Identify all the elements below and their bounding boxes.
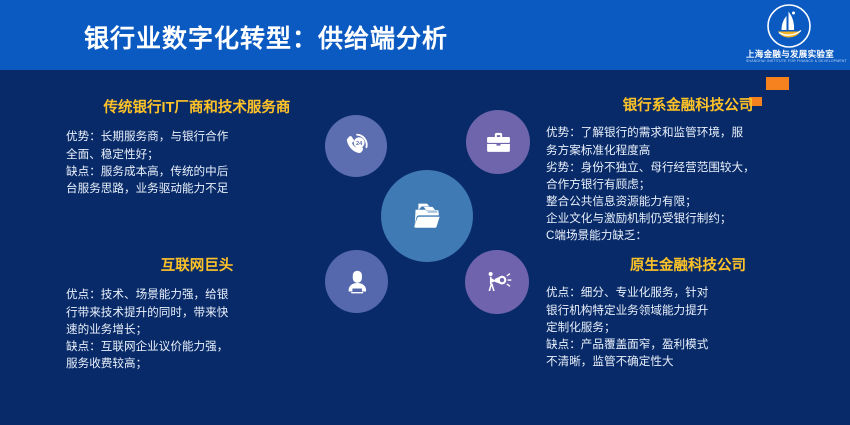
- block-legacy-it-vendors: 传统银行IT厂商和技术服务商 优势：长期服务商，与银行合作 全面、稳定性好； 缺…: [52, 100, 342, 197]
- page-title: 银行业数字化转型：供给端分析: [84, 19, 448, 55]
- block-native-fintech: 原生金融科技公司 优点：细分、专业化服务，针对 银行机构特定业务领域能力提升 定…: [538, 258, 838, 370]
- logo-subtitle: SHANGHAI INSTITUTE FOR FINANCE & DEVELOP…: [746, 59, 832, 63]
- icon-circle-user: [325, 250, 388, 313]
- icon-circle-support: 24: [325, 115, 387, 177]
- icon-circle-folder: [381, 170, 473, 262]
- megaphone-icon: [482, 267, 512, 297]
- accent-rect-large: [766, 77, 789, 90]
- support-24-icon: 24: [341, 131, 371, 161]
- sailboat-logo-icon: [767, 4, 811, 48]
- block-body-bank-affiliated-fintech: 优势：了解银行的需求和监管环境，服 务方案标准化程度高 劣势：身份不独立、母行经…: [538, 124, 838, 244]
- block-internet-giants: 互联网巨头 优点：技术、场景能力强，给银 行带来技术提升的同时，带来快 速的业务…: [52, 258, 342, 372]
- block-body-native-fintech: 优点：细分、专业化服务，针对 银行机构特定业务领域能力提升 定制化服务； 缺点：…: [538, 284, 838, 370]
- block-title-native-fintech: 原生金融科技公司: [538, 258, 838, 275]
- block-bank-affiliated-fintech: 银行系金融科技公司 优势：了解银行的需求和监管环境，服 务方案标准化程度高 劣势…: [538, 98, 838, 244]
- svg-text:24: 24: [356, 141, 363, 147]
- slide-canvas: 银行业数字化转型：供给端分析 上海金融与发展实验室 SHANGHAI INSTI…: [0, 0, 850, 425]
- folder-files-icon: [406, 195, 448, 237]
- block-title-legacy-it-vendors: 传统银行IT厂商和技术服务商: [52, 100, 342, 117]
- block-title-bank-affiliated-fintech: 银行系金融科技公司: [538, 98, 838, 115]
- block-body-legacy-it-vendors: 优势：长期服务商，与银行合作 全面、稳定性好； 缺点：服务成本高，传统的中后 台…: [52, 128, 342, 197]
- logo: 上海金融与发展实验室 SHANGHAI INSTITUTE FOR FINANC…: [746, 4, 832, 66]
- block-body-internet-giants: 优点：技术、场景能力强，给银 行带来技术提升的同时，带来快 速的业务增长； 缺点…: [52, 286, 342, 372]
- briefcase-icon: [483, 127, 514, 158]
- user-icon: [342, 267, 372, 297]
- icon-circle-megaphone: [465, 250, 529, 314]
- icon-circle-briefcase: [466, 110, 530, 174]
- block-title-internet-giants: 互联网巨头: [52, 258, 342, 275]
